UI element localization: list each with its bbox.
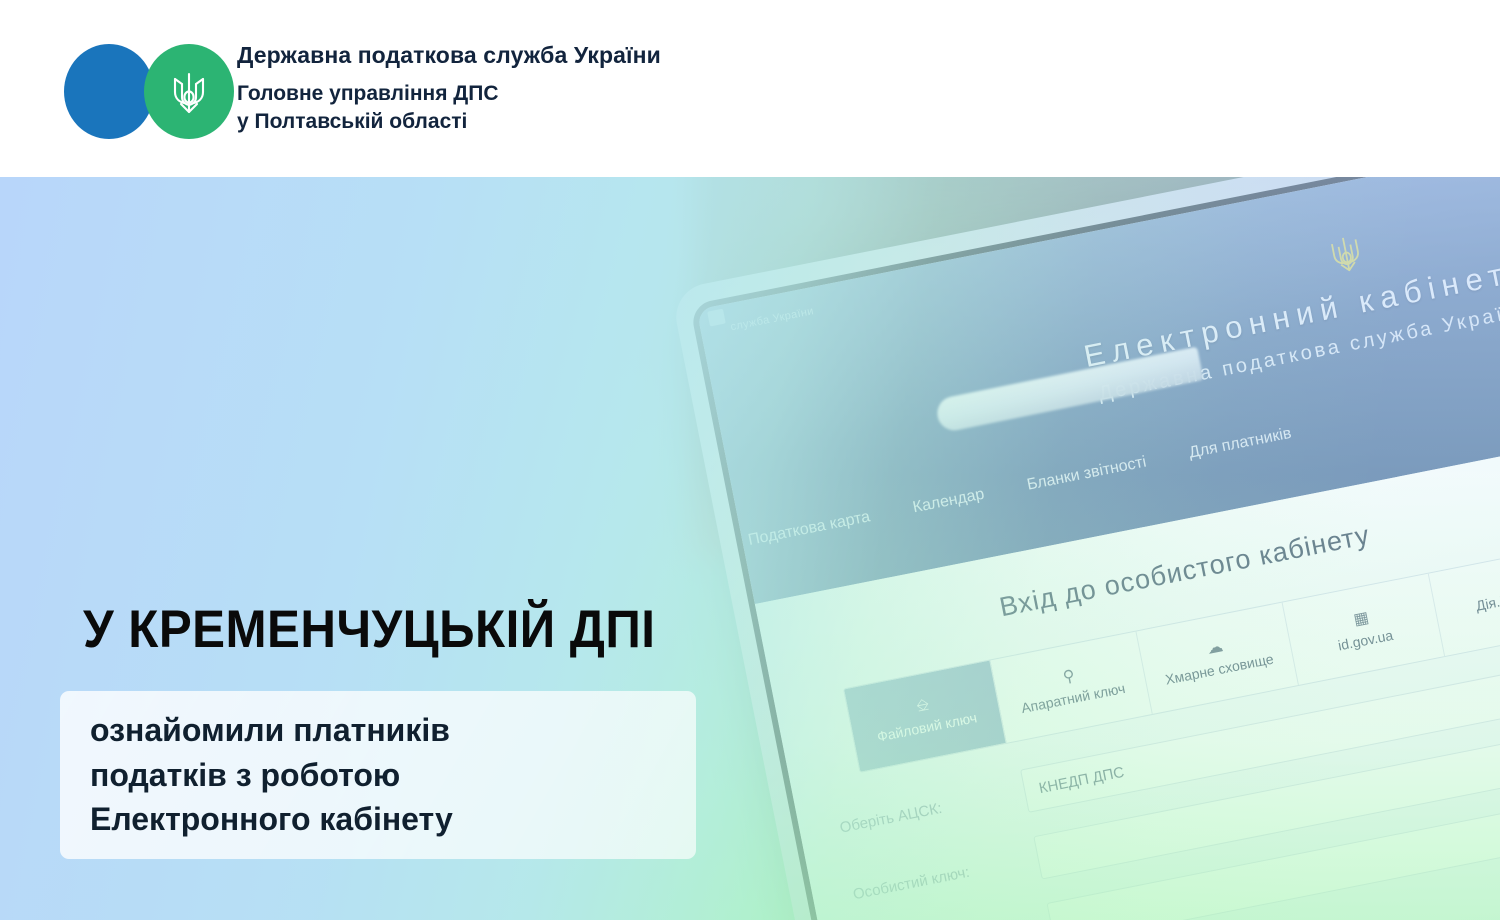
- select-acsk-value: КНЕДП ДПС: [1037, 763, 1125, 796]
- nav-item-report-forms[interactable]: Бланки звітності: [1026, 454, 1148, 495]
- tablet-screen-frame: служба України: [690, 177, 1500, 920]
- subtitle-text: ознайомили платників податків з роботою …: [60, 708, 453, 841]
- dps-logo: [60, 39, 225, 139]
- nav-item-tax-map[interactable]: Податкова карта: [747, 508, 872, 550]
- file-key-icon: ⎒: [915, 695, 931, 717]
- label-acsk: Оберіть АЦСК:: [838, 786, 1008, 836]
- app-logo-icon: [707, 309, 726, 327]
- tab-id-gov-ua-label: id.gov.ua: [1337, 627, 1395, 655]
- app-brand-small: служба України: [730, 305, 815, 333]
- tab-hardware-key[interactable]: ⚲ Апаратний ключ: [990, 631, 1152, 742]
- header-text-block: Державна податкова служба України Головн…: [237, 41, 661, 137]
- tab-id-gov-ua[interactable]: ▦ id.gov.ua: [1283, 574, 1445, 685]
- tablet-screen: служба України: [697, 177, 1500, 920]
- ukraine-trident-icon: [168, 71, 210, 119]
- tab-diia-signature-label: Дія.Підпис: [1475, 585, 1500, 615]
- subtitle-card: ознайомили платників податків з роботою …: [60, 691, 696, 859]
- hardware-key-icon: ⚲: [1061, 666, 1076, 688]
- app-trident-icon: [1325, 231, 1368, 279]
- logo-blue-circle-icon: [64, 44, 154, 139]
- organisation-title: Державна податкова служба України: [237, 41, 661, 70]
- organisation-subtitle: Головне управління ДПС у Полтавській обл…: [237, 80, 661, 136]
- id-card-icon: ▦: [1352, 608, 1371, 631]
- hero-banner: служба України: [0, 177, 1500, 920]
- tab-cloud-storage[interactable]: ☁ Хмарне сховище: [1136, 603, 1298, 714]
- tab-file-key[interactable]: ⎒ Файловий ключ: [844, 660, 1006, 771]
- page-title: У КРЕМЕНЧУЦЬКІЙ ДПІ: [83, 603, 655, 656]
- nav-item-calendar[interactable]: Календар: [911, 486, 986, 518]
- poster-page: Державна податкова служба України Головн…: [0, 0, 1500, 920]
- nav-item-for-payers[interactable]: Для платників: [1188, 425, 1294, 463]
- site-header: Державна податкова служба України Головн…: [0, 0, 1500, 177]
- cloud-icon: ☁: [1205, 637, 1225, 660]
- label-private-key: Особистий ключ:: [851, 853, 1021, 903]
- tablet-device: служба України: [670, 177, 1500, 920]
